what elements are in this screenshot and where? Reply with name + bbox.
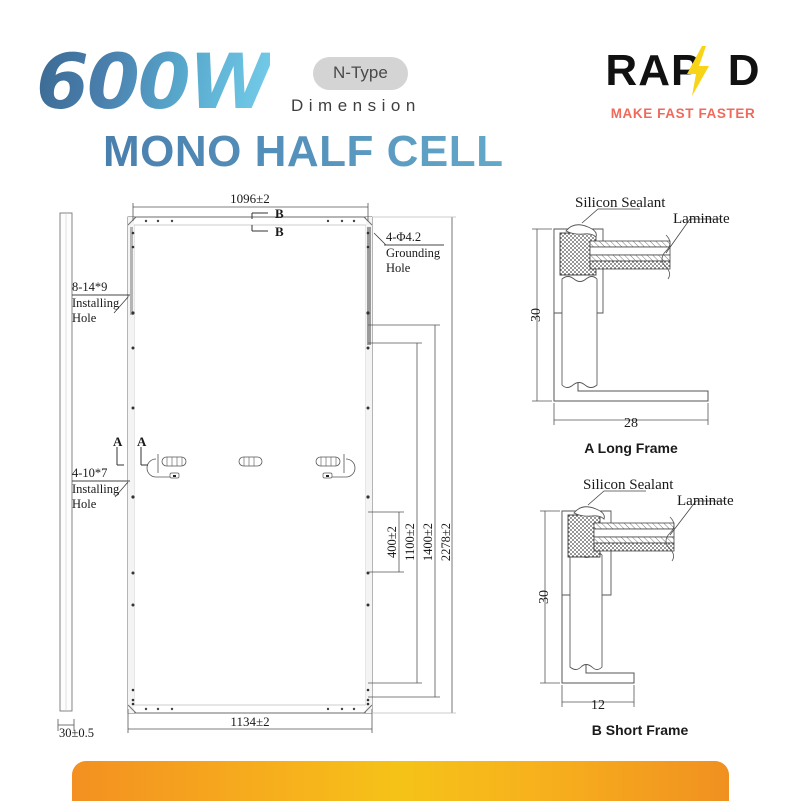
- long-frame-width-label: 28: [624, 416, 638, 431]
- section-marker-b-upper: B: [275, 206, 284, 221]
- footer-accent-bar: [72, 761, 729, 801]
- ntype-badge: N-Type: [313, 57, 408, 90]
- long-frame-sealant-label: Silicon Sealant: [575, 195, 666, 211]
- page-root: 600W N-Type Dimension MONO HALF CELL RAP…: [0, 0, 801, 801]
- section-marker-b-lower: B: [275, 224, 284, 239]
- callout-line2: Hole: [386, 261, 411, 275]
- short-frame-sealant-label: Silicon Sealant: [583, 477, 674, 493]
- dimension-vertical-group: [368, 217, 456, 713]
- page-subtitle: MONO HALF CELL: [103, 130, 504, 174]
- dimension-thickness-label: 30±0.5: [59, 726, 94, 740]
- callout-grounding-hole: 4-Φ4.2 Grounding Hole: [386, 230, 441, 275]
- callout-code: 4-10*7: [72, 466, 107, 480]
- callout-line1: Installing: [72, 296, 120, 310]
- callout-code: 8-14*9: [72, 280, 107, 294]
- callout-code: 4-Φ4.2: [386, 230, 421, 244]
- dimension-1400-label: 1400±2: [421, 523, 435, 561]
- section-marker-a-left: A: [113, 434, 123, 449]
- short-frame-laminate-label: Laminate: [677, 493, 734, 509]
- callout-line1: Grounding: [386, 246, 441, 260]
- panel-front-view: [128, 217, 372, 713]
- logo-text-right: D: [728, 46, 761, 95]
- brand-logo: RAP D MAKE FAST FASTER: [593, 48, 773, 134]
- header: 600W N-Type Dimension MONO HALF CELL RAP…: [0, 0, 801, 185]
- callout-installing-hole-lower: 4-10*7 Installing Hole: [72, 466, 120, 511]
- section-marker-a-right: A: [137, 434, 147, 449]
- lightning-bolt-icon: [685, 46, 711, 96]
- short-frame-width-label: 12: [591, 698, 605, 713]
- logo-wordmark: RAP D: [593, 48, 773, 94]
- dimension-top-label: 1096±2: [230, 191, 270, 206]
- callout-line2: Hole: [72, 311, 97, 325]
- long-frame-height-label: 30: [529, 308, 544, 322]
- short-frame-height-label: 30: [537, 590, 552, 604]
- dimension-400-label: 400±2: [385, 526, 399, 558]
- short-frame-section: [540, 491, 724, 707]
- short-frame-title: B Short Frame: [592, 722, 689, 738]
- long-frame-laminate-label: Laminate: [673, 211, 730, 227]
- dimension-1100-label: 1100±2: [403, 523, 417, 561]
- callout-line1: Installing: [72, 482, 120, 496]
- logo-tagline: MAKE FAST FASTER: [593, 106, 773, 121]
- technical-drawing: 1096±2 1134±2 30±0.5 B B A A 8-14*9 Inst…: [0, 185, 801, 750]
- drawing-canvas: 1096±2 1134±2 30±0.5 B B A A 8-14*9 Inst…: [0, 185, 801, 750]
- dimension-2278-label: 2278±2: [439, 523, 453, 561]
- dimension-bottom-label: 1134±2: [230, 714, 269, 729]
- callout-installing-hole-upper: 8-14*9 Installing Hole: [72, 280, 120, 325]
- long-frame-title: A Long Frame: [584, 440, 678, 456]
- junction-box-center: [239, 457, 262, 466]
- callout-line2: Hole: [72, 497, 97, 511]
- dimension-label: Dimension: [291, 96, 421, 116]
- long-frame-section: [532, 209, 720, 425]
- page-title-wattage: 600W: [36, 44, 270, 120]
